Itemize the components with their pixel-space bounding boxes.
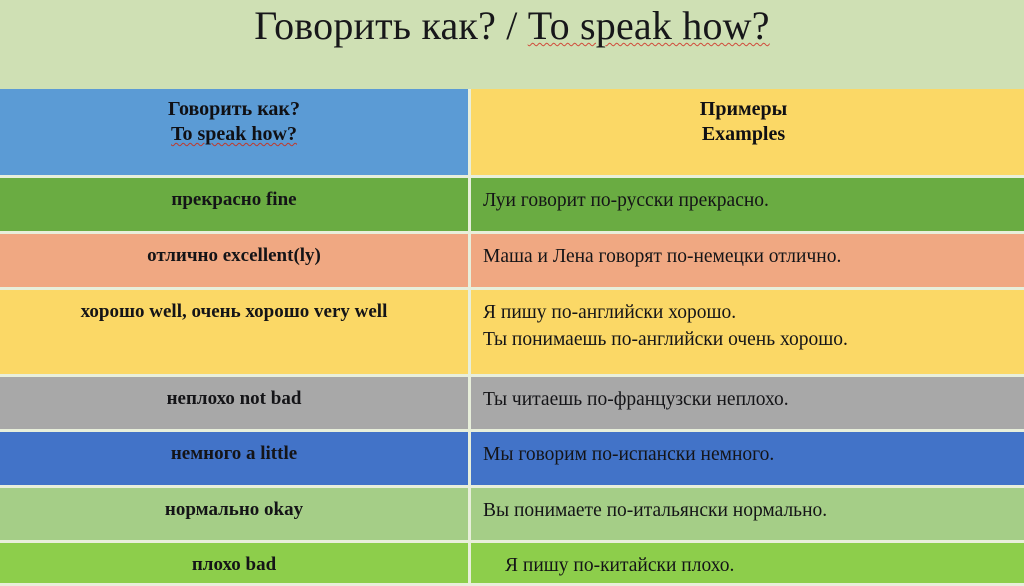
table-row: плохо badЯ пишу по-китайски плохо.: [0, 543, 1024, 586]
table-header-term-cell: Говорить как? To speak how?: [0, 89, 471, 178]
table-header-example-line2: Examples: [700, 122, 787, 147]
term-text: отлично excellent(ly): [147, 243, 321, 269]
table-row: нормально okayВы понимаете по-итальянски…: [0, 488, 1024, 543]
table-header-example-text: Примеры Examples: [700, 97, 787, 147]
example-text: Маша и Лена говорят по-немецки отлично.: [483, 243, 841, 270]
table-body: прекрасно fineЛуи говорит по-русски прек…: [0, 178, 1024, 586]
slide-title-english: To speak how?: [528, 3, 770, 48]
term-text: хорошо well, очень хорошо very well: [81, 299, 388, 325]
table-row: отлично excellent(ly)Маша и Лена говорят…: [0, 234, 1024, 290]
example-text: Ты читаешь по-французски неплохо.: [483, 386, 789, 413]
table-cell-term: плохо bad: [0, 543, 471, 586]
table-header-row: Говорить как? To speak how? Примеры Exam…: [0, 89, 1024, 178]
table-cell-example: Луи говорит по-русски прекрасно.: [471, 178, 1024, 234]
example-line: Мы говорим по-испански немного.: [483, 441, 774, 468]
table-cell-term: нормально okay: [0, 488, 471, 543]
example-line: Вы понимаете по-итальянски нормально.: [483, 497, 827, 524]
term-text: плохо bad: [192, 552, 276, 578]
example-line: Я пишу по-китайски плохо.: [505, 552, 734, 579]
term-text: неплохо not bad: [167, 386, 302, 412]
example-text: Я пишу по-китайски плохо.: [483, 552, 734, 579]
table-cell-term: неплохо not bad: [0, 377, 471, 432]
table-row: неплохо not badТы читаешь по-французски …: [0, 377, 1024, 432]
table-header-term-line1: Говорить как?: [168, 97, 300, 122]
table-cell-term: прекрасно fine: [0, 178, 471, 234]
example-text: Вы понимаете по-итальянски нормально.: [483, 497, 827, 524]
slide-canvas: Говорить как? / To speak how? Говорить к…: [0, 0, 1024, 586]
table-cell-term: немного a little: [0, 432, 471, 488]
vocabulary-table: Говорить как? To speak how? Примеры Exam…: [0, 89, 1024, 586]
table-cell-example: Маша и Лена говорят по-немецки отлично.: [471, 234, 1024, 290]
table-row: немного a littleМы говорим по-испански н…: [0, 432, 1024, 488]
table-cell-example: Мы говорим по-испански немного.: [471, 432, 1024, 488]
example-line: Луи говорит по-русски прекрасно.: [483, 187, 769, 214]
table-cell-example: Я пишу по-английски хорошо.Ты понимаешь …: [471, 290, 1024, 377]
table-row: прекрасно fineЛуи говорит по-русски прек…: [0, 178, 1024, 234]
example-line: Ты читаешь по-французски неплохо.: [483, 386, 789, 413]
table-header-example-cell: Примеры Examples: [471, 89, 1024, 178]
slide-title: Говорить как? / To speak how?: [0, 0, 1024, 89]
term-text: немного a little: [171, 441, 297, 467]
slide-title-russian: Говорить как? /: [254, 3, 517, 48]
example-text: Я пишу по-английски хорошо.Ты понимаешь …: [483, 299, 848, 353]
table-header-example-line1: Примеры: [700, 97, 787, 122]
example-text: Мы говорим по-испански немного.: [483, 441, 774, 468]
table-cell-example: Ты читаешь по-французски неплохо.: [471, 377, 1024, 432]
table-cell-term: отлично excellent(ly): [0, 234, 471, 290]
term-text: нормально okay: [165, 497, 303, 523]
table-header-term-line2: To speak how?: [168, 122, 300, 147]
example-line: Ты понимаешь по-английски очень хорошо.: [483, 326, 848, 353]
table-cell-example: Вы понимаете по-итальянски нормально.: [471, 488, 1024, 543]
slide-title-text: Говорить как? / To speak how?: [254, 2, 769, 50]
table-cell-example: Я пишу по-китайски плохо.: [471, 543, 1024, 586]
example-line: Я пишу по-английски хорошо.: [483, 299, 848, 326]
term-text: прекрасно fine: [171, 187, 296, 213]
table-header-term-text: Говорить как? To speak how?: [168, 97, 300, 147]
example-text: Луи говорит по-русски прекрасно.: [483, 187, 769, 214]
table-cell-term: хорошо well, очень хорошо very well: [0, 290, 471, 377]
example-line: Маша и Лена говорят по-немецки отлично.: [483, 243, 841, 270]
table-row: хорошо well, очень хорошо very wellЯ пиш…: [0, 290, 1024, 377]
